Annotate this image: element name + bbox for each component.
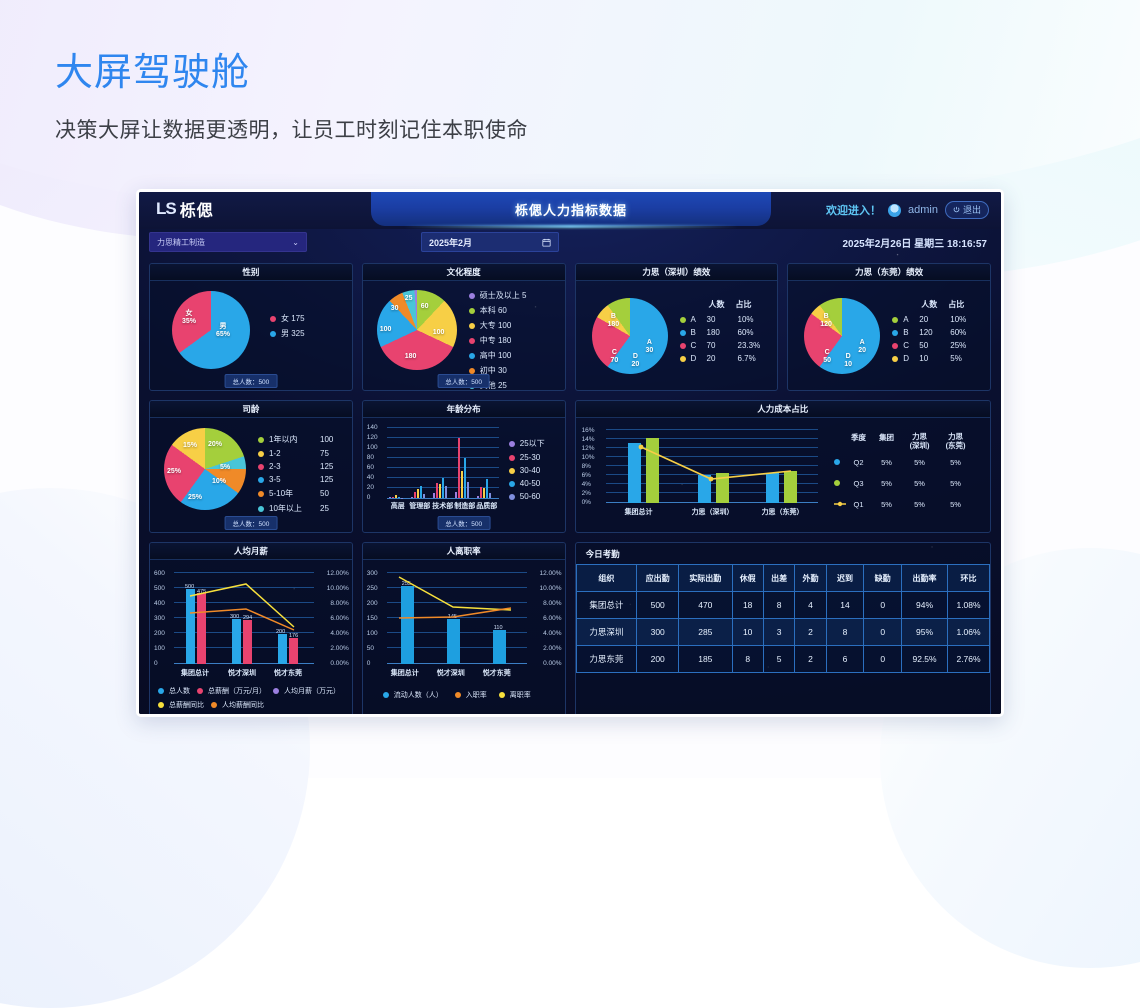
legend-count: 30 (707, 315, 733, 324)
calendar-icon (542, 238, 551, 247)
legend-quarter: Q2 (846, 458, 872, 467)
cell-expected: 300 (637, 619, 679, 646)
pie-slice-pct-2to3: 25% (167, 468, 181, 476)
salary-cat-label: 悦才东莞 (266, 668, 310, 678)
salary-plot-area: 500 475 300 294 200 176 (174, 572, 314, 664)
card-turnover-title: 人离职率 (363, 543, 565, 560)
legend-item: A2010% (892, 315, 966, 324)
legend-item: C5025% (892, 341, 966, 350)
legend-item: 总人数 (158, 686, 190, 696)
col-absent: 缺勤 (864, 565, 902, 592)
cell-field: 2 (795, 619, 826, 646)
legend-item: 25以下 (509, 438, 545, 449)
legend-item: 25-30 (509, 453, 545, 462)
legend-label: 流动人数（人） (394, 690, 443, 700)
dashboard-topbar: LS 栎偲 栎偲人力指标数据 欢迎进入！ admin 退出 (139, 192, 1001, 229)
pie-slice-pct-1y: 20% (208, 441, 222, 449)
legend-item: 50-60 (509, 492, 545, 501)
pie-slice-label-secondary: 180 (405, 353, 417, 361)
legend-quarter: Q3 (846, 479, 872, 488)
cell-actual: 185 (679, 646, 732, 673)
date-picker-value: 2025年2月 (429, 236, 472, 249)
card-education: 文化程度 60 100 180 100 30 25 硕士及以上 5 本科 60 … (362, 263, 566, 391)
dashboard-row-3: 人均月薪 600500 400300 200100 0 12.00%10.00%… (149, 542, 991, 717)
legend-label: 本科 60 (480, 305, 507, 316)
dashboard-frame: LS 栎偲 栎偲人力指标数据 欢迎进入！ admin 退出 力思精工制造 ⌄ 2… (136, 189, 1004, 717)
cell-leave: 8 (732, 646, 763, 673)
card-tenure-title: 司龄 (150, 401, 352, 418)
legend-head-count: 人数 (709, 299, 725, 310)
legend-label: B (903, 328, 914, 337)
table-row[interactable]: 力思深圳 300 285 10 3 2 8 0 95% 1.06% (576, 619, 989, 646)
age-cat-label: 技术部 (431, 501, 455, 511)
user-avatar-icon (888, 204, 901, 217)
col-rate: 出勤率 (902, 565, 948, 592)
legend-quarter: Q1 (846, 500, 872, 509)
tenure-total: 总人数：500 (224, 516, 277, 530)
legend-ratio: 10% (738, 315, 754, 324)
cell-absent: 0 (864, 646, 902, 673)
dashboard-title: 栎偲人力指标数据 (371, 192, 771, 226)
legend-count: 20 (707, 354, 733, 363)
pie-slice-label-other: 25 (405, 295, 413, 303)
legend-label: 女 175 (281, 313, 305, 324)
title-banner: 栎偲人力指标数据 (371, 192, 771, 226)
legend-item: C7023.3% (680, 341, 761, 350)
legend-item: 10年以上25 (258, 503, 333, 514)
pie-slice-label-a: A20 (858, 339, 866, 355)
cell-travel: 8 (763, 592, 794, 619)
cost-plot-area (606, 429, 818, 503)
cost-legend-row: Q3 5% 5% 5% (834, 479, 974, 488)
cell-rate: 95% (902, 619, 948, 646)
legend-head-dg: 力思(东莞) (938, 432, 974, 450)
legend-label: 40-50 (520, 479, 540, 488)
dashboard-grid: 性别 女35% 男65% 女 175 男 325 总人数：500 文化程度 (139, 259, 1001, 717)
cell-rate: 94% (902, 592, 948, 619)
legend-label: A (903, 315, 914, 324)
legend-sz-val: 5% (902, 458, 938, 467)
bar-group-management (411, 428, 427, 498)
card-education-body: 60 100 180 100 30 25 硕士及以上 5 本科 60 大专 10… (363, 281, 565, 391)
legend-label: 50-60 (520, 492, 540, 501)
perf-shenzhen-legend: 人数 占比 A3010% B18060% C7023.3% D206.7% (680, 299, 761, 367)
legend-label: 高中 100 (480, 350, 512, 361)
card-cost: 人力成本占比 16%14% 12%10% 8%6% 4%2% 0% (575, 400, 991, 533)
legend-label: 1年以内 (269, 434, 315, 445)
turnover-legend: 流动人数（人） 入职率 离职率 (383, 690, 531, 700)
legend-count: 50 (919, 341, 945, 350)
power-icon (953, 206, 960, 213)
card-perf-dongguan-body: B120 C50 D10 A20 人数 占比 A2010% B12060% C5… (788, 281, 990, 391)
legend-item: 高中 100 (469, 350, 527, 361)
legend-label: 2-3 (269, 462, 315, 471)
legend-label: 总薪酬同比 (169, 700, 204, 710)
legend-item: 1-275 (258, 449, 333, 458)
pie-slice-label-college: 100 (433, 329, 445, 337)
cost-legend-header: 季度 集团 力思(深圳) 力思(东莞) (834, 432, 974, 450)
card-perf-shenzhen-body: B180 C70 D20 A30 人数 占比 A3010% B18060% C7… (576, 281, 778, 391)
date-picker[interactable]: 2025年2月 (421, 232, 559, 252)
turnover-lines (387, 572, 527, 664)
legend-label: 男 325 (281, 328, 305, 339)
dashboard-row-1: 性别 女35% 男65% 女 175 男 325 总人数：500 文化程度 (149, 263, 991, 391)
age-cat-label: 高层 (387, 501, 409, 511)
turnover-cat-label: 集团总计 (383, 668, 427, 678)
col-actual: 实际出勤 (679, 565, 732, 592)
welcome-text: 欢迎进入！ (826, 202, 881, 218)
cell-rate: 92.5% (902, 646, 948, 673)
legend-item: 女 175 (270, 313, 305, 324)
pie-slice-label-d: D20 (632, 353, 640, 369)
pie-slice-pct-10y: 5% (220, 464, 230, 472)
age-total: 总人数：500 (437, 516, 490, 530)
pie-slice-label-b: B180 (608, 313, 620, 329)
legend-count: 120 (919, 328, 945, 337)
col-field: 外勤 (795, 565, 826, 592)
legend-ratio: 23.3% (738, 341, 761, 350)
card-education-title: 文化程度 (363, 264, 565, 281)
card-perf-shenzhen: 力思（深圳）绩效 B180 C70 D20 A30 人数 占比 A3010% (575, 263, 779, 391)
cell-field: 4 (795, 592, 826, 619)
cell-actual: 285 (679, 619, 732, 646)
cell-field: 2 (795, 646, 826, 673)
cell-leave: 10 (732, 619, 763, 646)
legend-item: 人均月薪（万元） (273, 686, 340, 696)
legend-count: 20 (919, 315, 945, 324)
cell-leave: 18 (732, 592, 763, 619)
card-tenure-body: 20% 5% 10% 25% 25% 15% 1年以内100 1-275 2-3… (150, 418, 352, 533)
org-select-value: 力思精工制造 (157, 237, 205, 248)
legend-item: 硕士及以上 5 (469, 290, 527, 301)
perf-dongguan-pie-chart (804, 298, 880, 374)
legend-ratio: 5% (950, 354, 962, 363)
legend-count: 10 (919, 354, 945, 363)
card-gender: 性别 女35% 男65% 女 175 男 325 总人数：500 (149, 263, 353, 391)
bar-group-manufacturing (455, 428, 471, 498)
card-perf-dongguan-title: 力思（东莞）绩效 (788, 264, 990, 281)
cell-expected: 500 (637, 592, 679, 619)
legend-dg-val: 5% (938, 458, 974, 467)
legend-count: 70 (707, 341, 733, 350)
col-org: 组织 (576, 565, 637, 592)
legend-group-val: 5% (872, 458, 902, 467)
card-cost-body: 16%14% 12%10% 8%6% 4%2% 0% (576, 418, 990, 533)
cost-legend-table: 季度 集团 力思(深圳) 力思(东莞) Q2 5% 5% 5% (834, 432, 974, 509)
cell-late: 8 (826, 619, 864, 646)
legend-value: 50 (320, 489, 329, 498)
legend-ratio: 6.7% (738, 354, 756, 363)
pie-slice-label-bachelor: 60 (421, 303, 429, 311)
chevron-down-icon: ⌄ (292, 238, 299, 247)
line-marker-icon (834, 501, 846, 507)
legend-item: 流动人数（人） (383, 690, 443, 700)
col-late: 迟到 (826, 565, 864, 592)
legend-head-quarter: 季度 (846, 432, 872, 443)
table-header-row: 组织 应出勤 实际出勤 休假 出差 外勤 迟到 缺勤 出勤率 环比 (576, 565, 989, 592)
legend-dg-val: 5% (938, 500, 974, 509)
cell-mom: 1.06% (948, 619, 990, 646)
cost-legend-row: Q2 5% 5% 5% (834, 458, 974, 467)
username-label: admin (908, 204, 938, 216)
legend-header: 人数 占比 (892, 299, 966, 310)
legend-item: 总薪酬同比 (158, 700, 204, 710)
legend-item: D105% (892, 354, 966, 363)
legend-item: 男 325 (270, 328, 305, 339)
legend-label: D (691, 354, 702, 363)
cost-line-q1 (606, 429, 818, 503)
legend-head-group: 集团 (872, 432, 902, 443)
bar-group-senior (389, 428, 405, 498)
card-perf-shenzhen-title: 力思（深圳）绩效 (576, 264, 778, 281)
legend-head-count: 人数 (921, 299, 937, 310)
legend-label: 总人数 (169, 686, 190, 696)
cell-mom: 1.08% (948, 592, 990, 619)
org-select[interactable]: 力思精工制造 ⌄ (149, 232, 307, 252)
logout-label: 退出 (963, 203, 981, 216)
legend-value: 100 (320, 435, 333, 444)
age-legend: 25以下 25-30 30-40 40-50 50-60 (509, 438, 545, 505)
legend-label: 3-5 (269, 475, 315, 484)
salary-lines (174, 572, 314, 664)
legend-sz-val: 5% (902, 479, 938, 488)
legend-item: 入职率 (455, 690, 487, 700)
cost-legend-row: Q1 5% 5% 5% (834, 500, 974, 509)
cell-absent: 0 (864, 619, 902, 646)
legend-label: 人均月薪（万元） (284, 686, 340, 696)
card-perf-dongguan: 力思（东莞）绩效 B120 C50 D10 A20 人数 占比 A2010% (787, 263, 991, 391)
turnover-plot-area: 255 145 110 (387, 572, 527, 664)
pie-slice-label-highschool: 100 (380, 326, 392, 334)
legend-head-ratio: 占比 (948, 299, 964, 310)
dashboard-row-2: 司龄 20% 5% 10% 25% 25% 15% 1年以内100 1-275 … (149, 400, 991, 533)
salary-cat-label: 悦才深圳 (220, 668, 264, 678)
app-logo: LS 栎偲 (156, 197, 214, 221)
legend-value: 125 (320, 475, 333, 484)
cell-org: 集团总计 (576, 592, 637, 619)
pie-slice-pct-5to10: 10% (212, 478, 226, 486)
legend-label: B (691, 328, 702, 337)
card-turnover: 人离职率 300250 200150 10050 0 12.00%10.00% … (362, 542, 566, 717)
legend-group-val: 5% (872, 479, 902, 488)
legend-value: 25 (320, 504, 329, 513)
age-cat-label: 制造部 (453, 501, 477, 511)
salary-cat-label: 集团总计 (173, 668, 217, 678)
legend-item: B18060% (680, 328, 761, 337)
cell-travel: 5 (763, 646, 794, 673)
col-leave: 休假 (732, 565, 763, 592)
legend-value: 75 (320, 449, 329, 458)
legend-label: 30-40 (520, 466, 540, 475)
legend-label: 硕士及以上 5 (480, 290, 527, 301)
legend-label: 离职率 (510, 690, 531, 700)
legend-label: 大专 100 (480, 320, 512, 331)
logo-mark-icon: LS (156, 199, 176, 219)
age-plot-area (387, 427, 499, 499)
legend-label: 1-2 (269, 449, 315, 458)
legend-value: 125 (320, 462, 333, 471)
card-gender-title: 性别 (150, 264, 352, 281)
education-total: 总人数：500 (437, 374, 490, 388)
card-age-title: 年龄分布 (363, 401, 565, 418)
perf-dongguan-legend: 人数 占比 A2010% B12060% C5025% D105% (892, 299, 966, 367)
legend-head-ratio: 占比 (736, 299, 752, 310)
legend-label: 中专 180 (480, 335, 512, 346)
card-age-body: 140120 10080 6040 200 (363, 418, 565, 533)
legend-group-val: 5% (872, 500, 902, 509)
logout-button[interactable]: 退出 (945, 201, 989, 219)
card-attendance: 今日考勤 组织 应出勤 实际出勤 休假 出差 外勤 迟到 缺勤 出勤率 环比 (575, 542, 991, 717)
bar-group-quality (477, 428, 493, 498)
legend-item: 离职率 (499, 690, 531, 700)
card-turnover-body: 300250 200150 10050 0 12.00%10.00% 8.00%… (363, 560, 565, 717)
legend-ratio: 10% (950, 315, 966, 324)
cost-cat-label: 集团总计 (614, 507, 664, 517)
legend-label: 入职率 (466, 690, 487, 700)
legend-item: 总薪酬（万元/月） (197, 686, 266, 696)
legend-label: 10年以上 (269, 503, 315, 514)
user-area: 欢迎进入！ admin 退出 (826, 201, 989, 219)
legend-item: B12060% (892, 328, 966, 337)
legend-dg-val: 5% (938, 479, 974, 488)
legend-item: 中专 180 (469, 335, 527, 346)
card-attendance-title: 今日考勤 (576, 543, 990, 564)
filter-bar: 力思精工制造 ⌄ 2025年2月 2025年2月26日 星期三 18:16:57 (139, 229, 1001, 259)
cell-expected: 200 (637, 646, 679, 673)
logo-text: 栎偲 (180, 197, 214, 221)
gender-pie-chart (172, 291, 250, 369)
pie-slice-label-d: D10 (844, 353, 852, 369)
tenure-legend: 1年以内100 1-275 2-3125 3-5125 5-10年50 10年以… (258, 434, 333, 518)
pie-slice-pct-1to2: 15% (183, 442, 197, 450)
card-salary: 人均月薪 600500 400300 200100 0 12.00%10.00%… (149, 542, 353, 717)
legend-head-sz: 力思(深圳) (902, 432, 938, 450)
page-subtitle: 决策大屏让数据更透明，让员工时刻记住本职使命 (55, 114, 528, 144)
perf-shenzhen-pie-chart (592, 298, 668, 374)
attendance-table: 组织 应出勤 实际出勤 休假 出差 外勤 迟到 缺勤 出勤率 环比 集团总计 (576, 564, 990, 673)
pie-slice-label-c: C70 (611, 349, 619, 365)
legend-item: A3010% (680, 315, 761, 324)
cell-org: 力思东莞 (576, 646, 637, 673)
legend-item: 3-5125 (258, 475, 333, 484)
pie-slice-label-female: 女35% (182, 310, 196, 326)
cost-cat-label: 力思（深圳） (681, 507, 745, 517)
gender-legend: 女 175 男 325 (270, 313, 305, 343)
legend-label: 5-10年 (269, 488, 315, 499)
legend-item: 2-3125 (258, 462, 333, 471)
pie-slice-label-c: C50 (823, 349, 831, 365)
gender-total: 总人数：500 (224, 374, 277, 388)
cost-cat-label: 力思（东莞） (751, 507, 815, 517)
cell-mom: 2.76% (948, 646, 990, 673)
cell-travel: 3 (763, 619, 794, 646)
turnover-cat-label: 悦才深圳 (429, 668, 473, 678)
col-mom: 环比 (948, 565, 990, 592)
legend-item: 40-50 (509, 479, 545, 488)
cell-absent: 0 (864, 592, 902, 619)
datetime-display: 2025年2月26日 星期三 18:16:57 (842, 235, 987, 250)
cell-actual: 470 (679, 592, 732, 619)
legend-item: 5-10年50 (258, 488, 333, 499)
card-salary-title: 人均月薪 (150, 543, 352, 560)
legend-label: 25以下 (520, 438, 545, 449)
legend-ratio: 60% (950, 328, 966, 337)
legend-item: D206.7% (680, 354, 761, 363)
table-row[interactable]: 集团总计 500 470 18 8 4 14 0 94% 1.08% (576, 592, 989, 619)
card-salary-body: 600500 400300 200100 0 12.00%10.00% 8.00… (150, 560, 352, 717)
card-tenure: 司龄 20% 5% 10% 25% 25% 15% 1年以内100 1-275 … (149, 400, 353, 533)
col-travel: 出差 (763, 565, 794, 592)
cell-late: 14 (826, 592, 864, 619)
card-age: 年龄分布 140120 10080 6040 200 (362, 400, 566, 533)
age-cat-label: 品质部 (475, 501, 499, 511)
legend-label: C (691, 341, 702, 350)
legend-sz-val: 5% (902, 500, 938, 509)
card-gender-body: 女35% 男65% 女 175 男 325 总人数：500 (150, 281, 352, 391)
pie-slice-label-a: A30 (646, 339, 654, 355)
col-expected: 应出勤 (637, 565, 679, 592)
legend-label: A (691, 315, 702, 324)
pie-slice-pct-3to5: 25% (188, 494, 202, 502)
legend-item: 大专 100 (469, 320, 527, 331)
pie-slice-label-b: B120 (820, 313, 832, 329)
legend-item: 1年以内100 (258, 434, 333, 445)
legend-ratio: 25% (950, 341, 966, 350)
card-cost-title: 人力成本占比 (576, 401, 990, 418)
legend-label: C (903, 341, 914, 350)
pie-slice-label-junior: 30 (391, 305, 399, 313)
cell-org: 力思深圳 (576, 619, 637, 646)
legend-ratio: 60% (738, 328, 754, 337)
bar-group-tech (433, 428, 449, 498)
age-cat-label: 管理部 (408, 501, 432, 511)
salary-legend: 总人数 总薪酬（万元/月） 人均月薪（万元） 总薪酬同比 人均薪酬同比 (158, 686, 348, 710)
legend-label: D (903, 354, 914, 363)
pie-slice-label-male: 男65% (216, 323, 230, 339)
legend-item: 人均薪酬同比 (211, 700, 264, 710)
turnover-cat-label: 悦才东莞 (475, 668, 519, 678)
legend-label: 总薪酬（万元/月） (208, 686, 266, 696)
page-header: 大屏驾驶舱 决策大屏让数据更透明，让员工时刻记住本职使命 (55, 52, 528, 144)
legend-item: 本科 60 (469, 305, 527, 316)
legend-count: 180 (707, 328, 733, 337)
cell-late: 6 (826, 646, 864, 673)
legend-header: 人数 占比 (680, 299, 761, 310)
legend-label: 25-30 (520, 453, 540, 462)
legend-label: 人均薪酬同比 (222, 700, 264, 710)
page-title: 大屏驾驶舱 (55, 52, 528, 96)
table-row[interactable]: 力思东莞 200 185 8 5 2 6 0 92.5% 2.76% (576, 646, 989, 673)
legend-item: 30-40 (509, 466, 545, 475)
